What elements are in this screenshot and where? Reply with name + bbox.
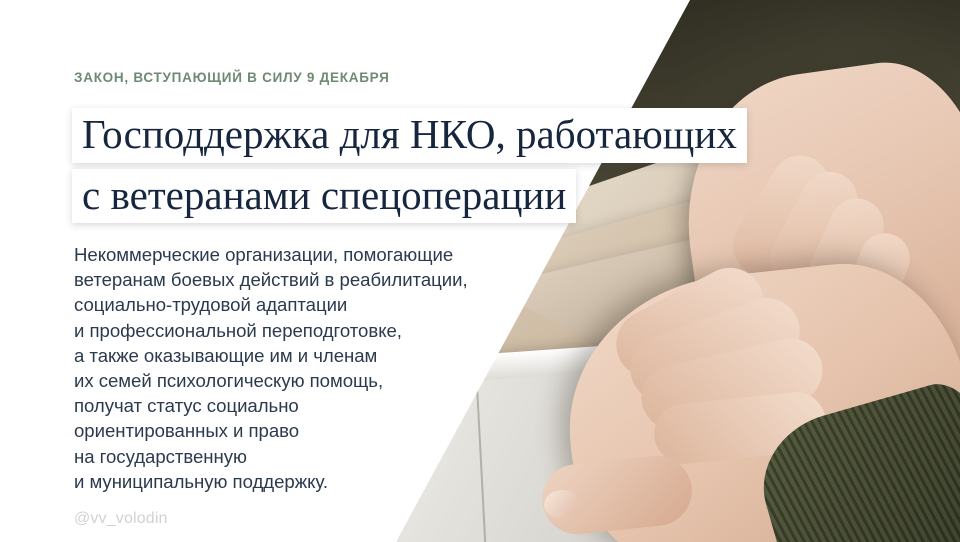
body-paragraph: Некоммерческие организации, помогающие в… bbox=[74, 242, 468, 494]
body-line-10: и муниципальную поддержку. bbox=[74, 469, 468, 494]
page-title: Господдержка для НКО, работающих с ветер… bbox=[72, 108, 872, 223]
body-line-1: Некоммерческие организации, помогающие bbox=[74, 242, 468, 267]
account-handle-watermark: @vv_volodin bbox=[74, 510, 168, 528]
headline-line-1: Господдержка для НКО, работающих bbox=[72, 108, 747, 163]
body-line-2: ветеранам боевых действий в реабилитации… bbox=[74, 267, 468, 292]
headline-line-2: с ветеранами спецоперации bbox=[72, 169, 576, 224]
infographic-card: ЗАКОН, ВСТУПАЮЩИЙ В СИЛУ 9 ДЕКАБРЯ Госпо… bbox=[0, 0, 960, 542]
kicker-label: ЗАКОН, ВСТУПАЮЩИЙ В СИЛУ 9 ДЕКАБРЯ bbox=[74, 70, 390, 85]
body-line-6: их семей психологическую помощь, bbox=[74, 368, 468, 393]
body-line-9: на государственную bbox=[74, 444, 468, 469]
body-line-3: социально-трудовой адаптации bbox=[74, 292, 468, 317]
body-line-8: ориентированных и право bbox=[74, 418, 468, 443]
body-line-4: и профессиональной переподготовке, bbox=[74, 318, 468, 343]
body-line-7: получат статус социально bbox=[74, 393, 468, 418]
body-line-5: а также оказывающие им и членам bbox=[74, 343, 468, 368]
